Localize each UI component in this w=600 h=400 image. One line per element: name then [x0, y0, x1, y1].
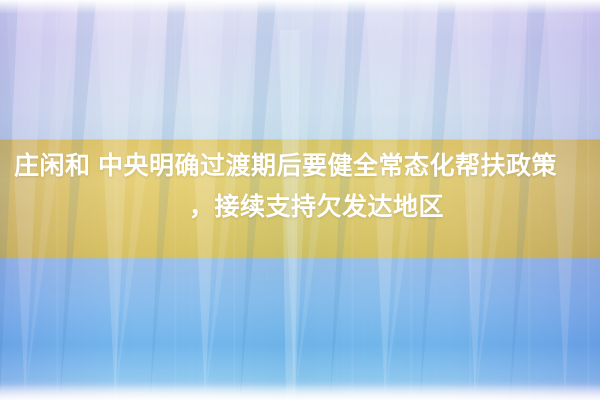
headline-line-1: 庄闲和 中央明确过渡期后要健全常态化帮扶政策 — [14, 146, 584, 187]
banner-headline: 庄闲和 中央明确过渡期后要健全常态化帮扶政策 ，接续支持欠发达地区 — [0, 146, 600, 228]
promo-banner: 庄闲和 中央明确过渡期后要健全常态化帮扶政策 ，接续支持欠发达地区 — [0, 0, 600, 400]
headline-line-2: ，接续支持欠发达地区 — [14, 187, 584, 228]
